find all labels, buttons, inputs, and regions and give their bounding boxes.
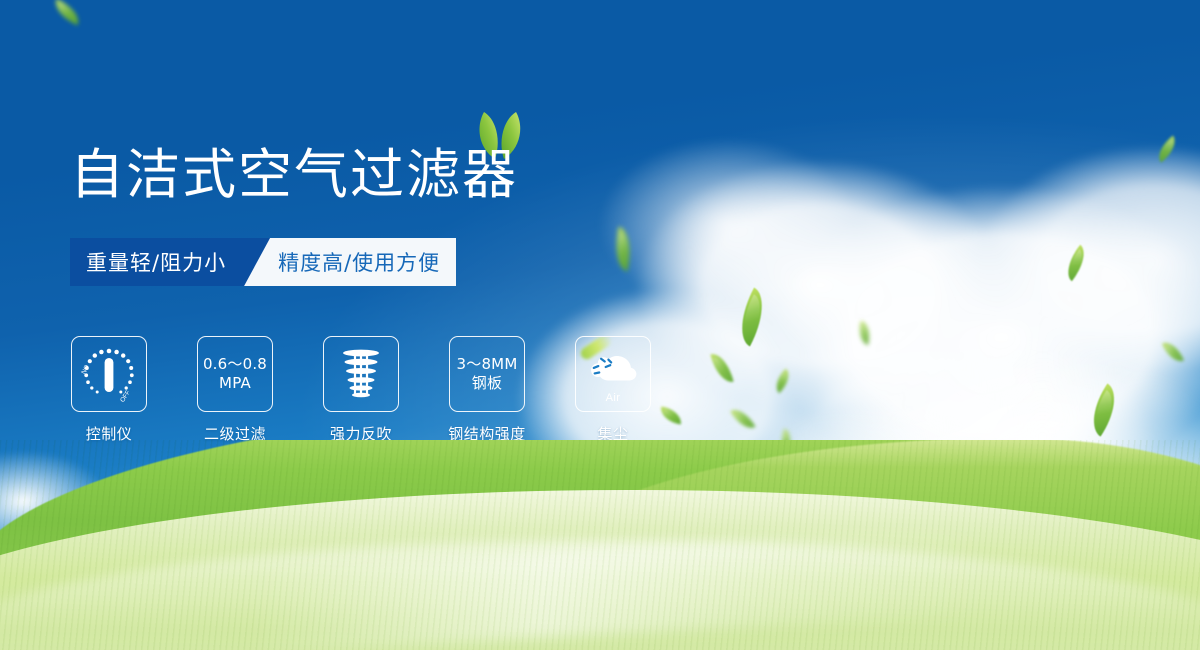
leaf-icon	[659, 407, 683, 425]
feature-icon-box: NO OFF	[71, 336, 147, 412]
leaf-icon	[1081, 383, 1128, 436]
feature-icon-box: 3～8MM 钢板	[449, 336, 525, 412]
subtitle-left-badge: 重量轻/阻力小	[70, 238, 244, 286]
feature-item-control-meter[interactable]: NO OFF 控制仪	[70, 336, 148, 444]
steel-plate-text-icon: 3～8MM 钢板	[457, 355, 518, 393]
product-banner: 自洁式空气过滤器 重量轻/阻力小 精度高/使用方便	[0, 0, 1200, 650]
feature-list: NO OFF 控制仪 0.6～0.8 MPA 二级过滤	[70, 336, 652, 444]
subtitle-right-badge: 精度高/使用方便	[270, 238, 456, 286]
feature-item-strong-backflush[interactable]: 强力反吹	[322, 336, 400, 444]
leaf-icon	[710, 351, 733, 386]
feature-item-dust-collection[interactable]: Air 集尘	[574, 336, 652, 444]
air-cloud-icon: Air	[583, 345, 643, 403]
feature-item-two-stage-filter[interactable]: 0.6～0.8 MPA 二级过滤	[196, 336, 274, 444]
leaf-icon	[50, 0, 84, 25]
grass-field	[0, 440, 1200, 650]
page-title: 自洁式空气过滤器	[70, 148, 518, 202]
feature-icon-box: Air	[575, 336, 651, 412]
grass-texture	[0, 440, 1200, 650]
leaf-icon	[610, 227, 636, 272]
leaf-icon	[1162, 338, 1184, 365]
leaf-icon	[729, 288, 776, 347]
feature-icon-box	[323, 336, 399, 412]
feature-item-steel-strength[interactable]: 3～8MM 钢板 钢结构强度	[448, 336, 526, 444]
leaf-icon	[1152, 135, 1181, 162]
coil-filter-icon	[337, 346, 385, 402]
air-label: Air	[583, 392, 643, 404]
pressure-text-icon: 0.6～0.8 MPA	[203, 355, 267, 393]
subtitle-strip: 重量轻/阻力小 精度高/使用方便	[70, 238, 456, 286]
subtitle-divider	[244, 238, 270, 286]
leaf-icon	[1059, 245, 1093, 282]
feature-icon-box: 0.6～0.8 MPA	[197, 336, 273, 412]
dial-gauge-icon: NO OFF	[78, 343, 140, 405]
leaf-icon	[856, 321, 874, 345]
leaf-icon	[730, 404, 755, 434]
svg-text:NO: NO	[80, 364, 91, 376]
leaf-icon	[770, 369, 795, 394]
